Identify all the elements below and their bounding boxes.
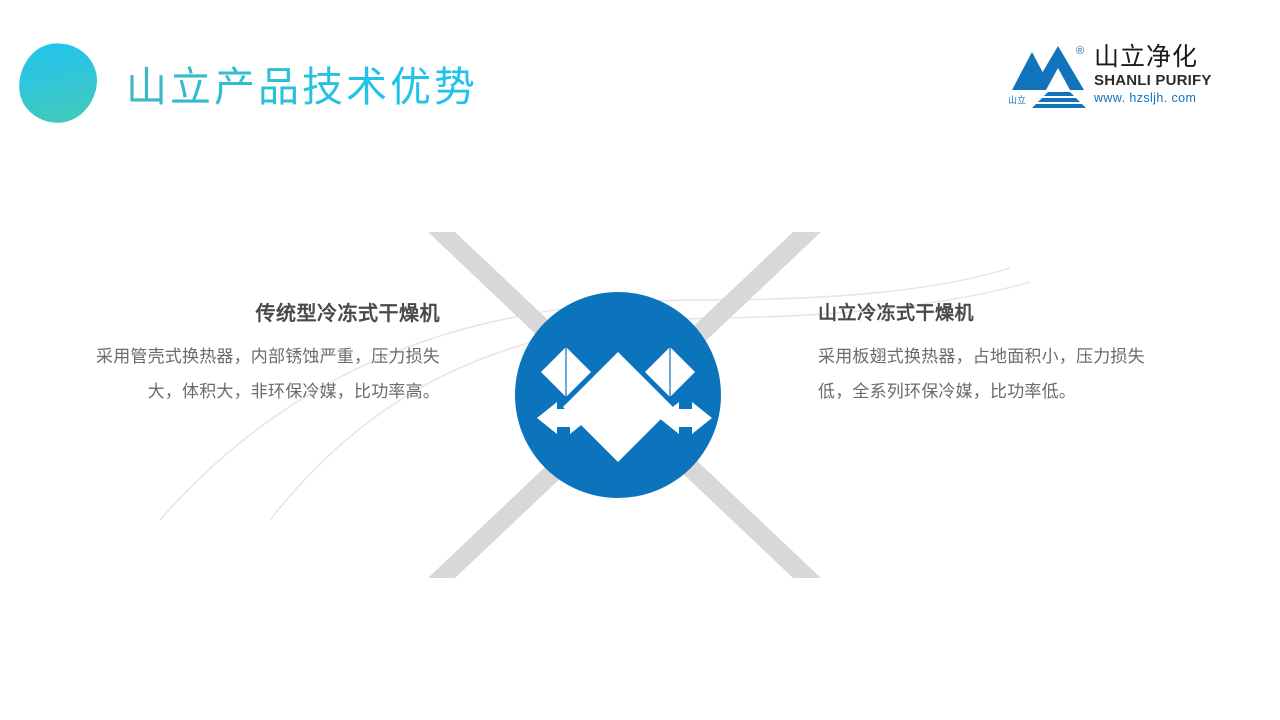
column-shanli-heading: 山立冷冻式干燥机 [818, 298, 1163, 328]
logo-company-name-cn: 山立净化 [1094, 42, 1222, 72]
logo-website-url[interactable]: www. hzsljh. com [1094, 90, 1222, 106]
decorative-blob-shape [18, 42, 98, 124]
decorative-x-bars [428, 232, 821, 578]
center-circle-background [515, 292, 721, 498]
company-logo[interactable]: 山立 ® 山立净化 SHANLI PURIFY www. hzsljh. com [1008, 42, 1220, 118]
exchange-diamonds-icon [537, 347, 712, 462]
diamond-split-lines [566, 347, 670, 397]
slide-header: 山立产品技术优势 山立 ® 山立净化 [0, 0, 1280, 160]
registered-trademark-icon: ® [1076, 46, 1084, 57]
page-title: 山立产品技术优势 [126, 60, 478, 114]
logo-company-name-en: SHANLI PURIFY [1094, 72, 1222, 90]
column-shanli: 山立冷冻式干燥机 采用板翅式换热器，占地面积小，压力损失低，全系列环保冷媒，比功… [818, 298, 1163, 410]
logo-text-block: 山立净化 SHANLI PURIFY www. hzsljh. com [1094, 42, 1222, 106]
column-traditional-body: 采用管壳式换热器，内部锈蚀严重，压力损失大，体积大，非环保冷媒，比功率高。 [95, 340, 440, 410]
column-traditional: 传统型冷冻式干燥机 采用管壳式换热器，内部锈蚀严重，压力损失大，体积大，非环保冷… [95, 298, 440, 410]
slide-canvas: 山立产品技术优势 山立 ® 山立净化 [0, 0, 1280, 720]
column-shanli-body: 采用板翅式换热器，占地面积小，压力损失低，全系列环保冷媒，比功率低。 [818, 340, 1163, 410]
logo-mark-label: 山立 [1008, 96, 1026, 107]
column-traditional-heading: 传统型冷冻式干燥机 [95, 298, 440, 328]
